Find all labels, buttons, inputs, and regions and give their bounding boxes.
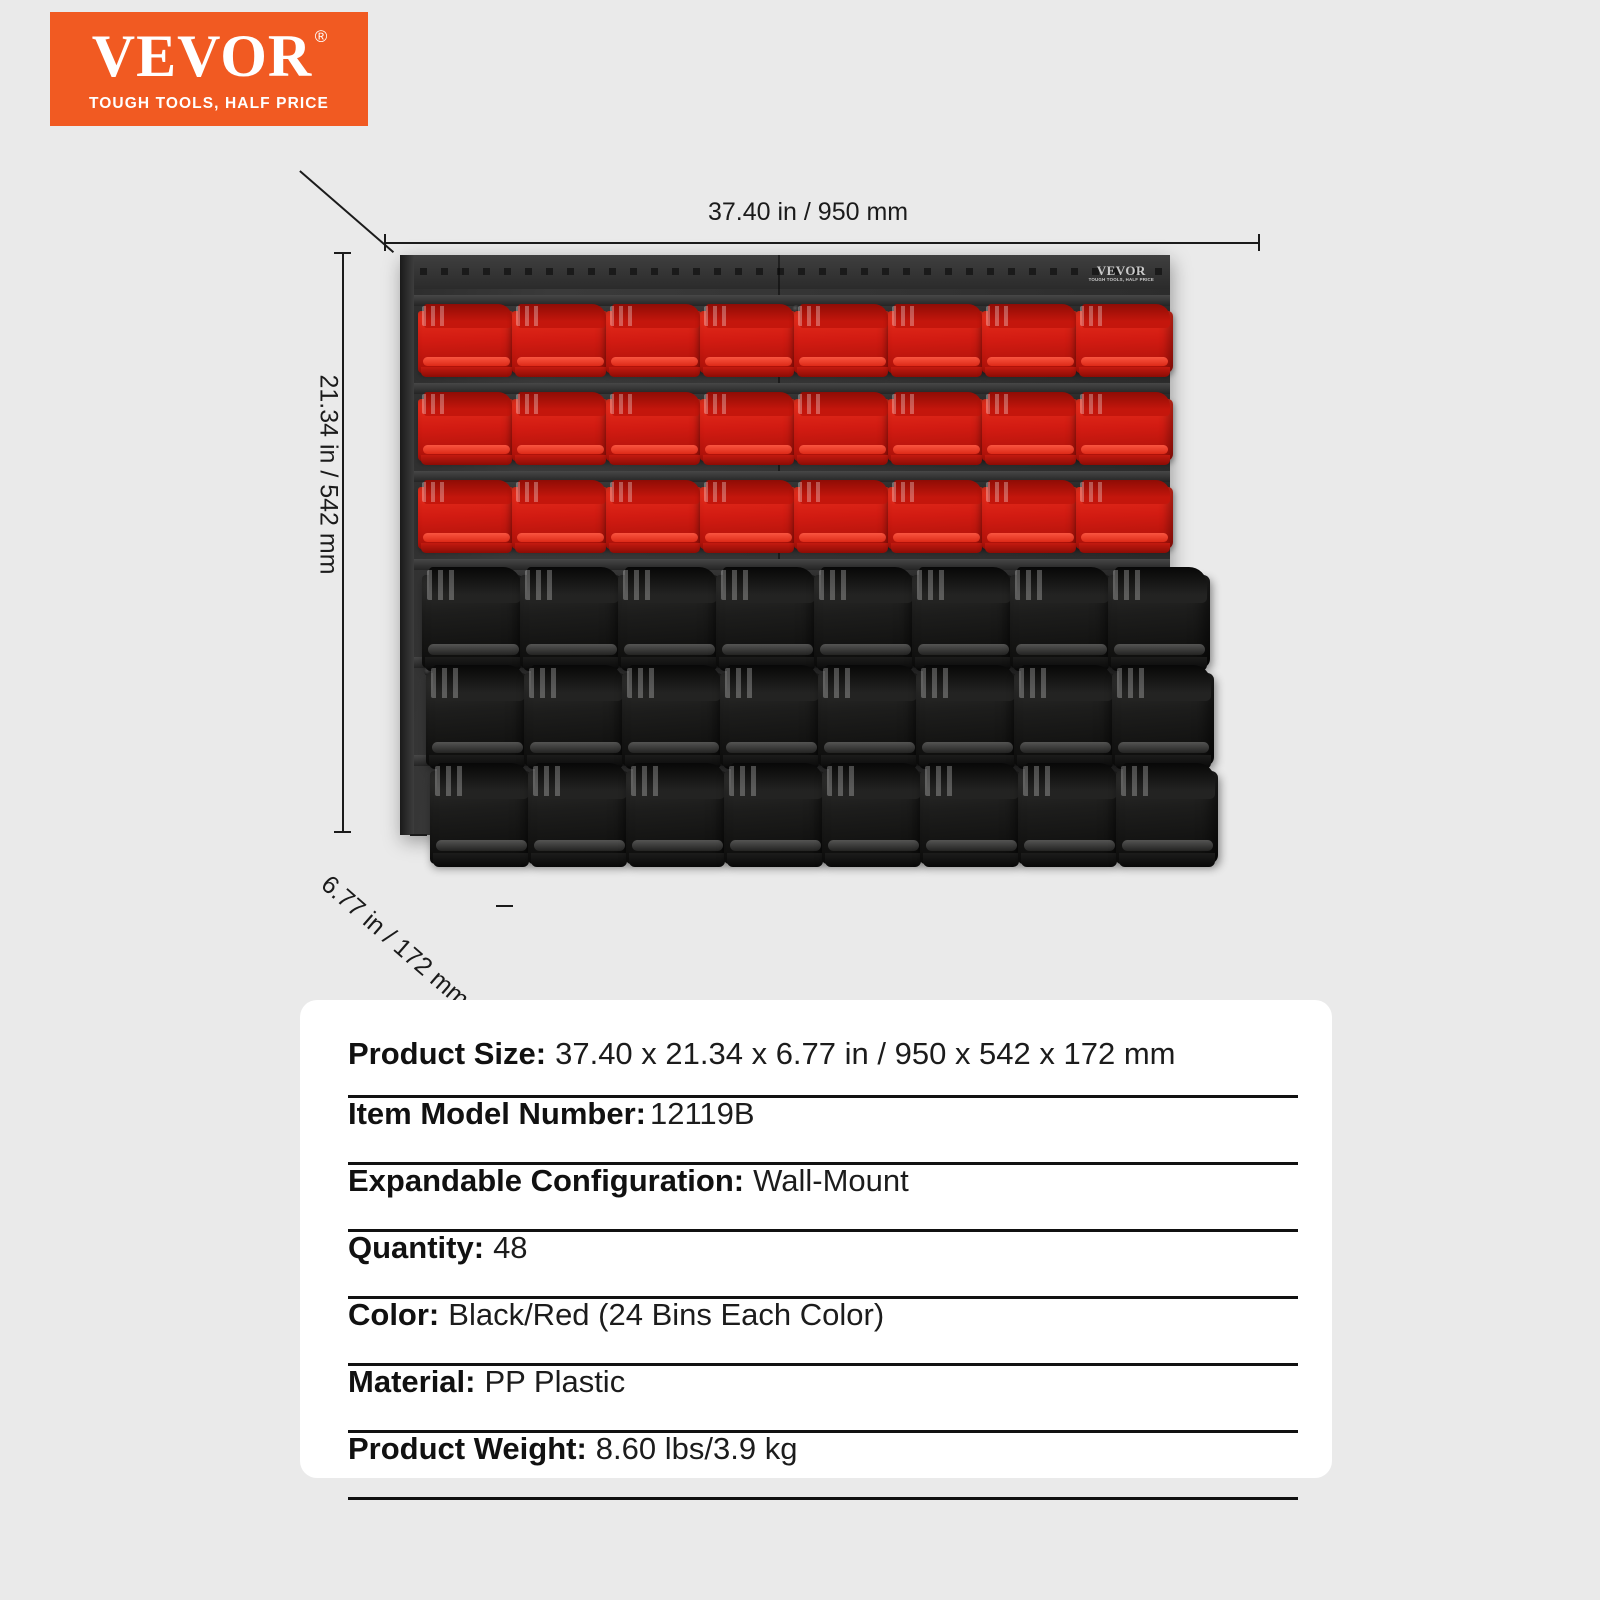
storage-bin-red (1076, 479, 1173, 553)
storage-bin-red (418, 479, 515, 553)
storage-bin-black (528, 761, 630, 867)
dimension-cap-width-right (1258, 234, 1260, 251)
brand-tagline: TOUGH TOOLS, HALF PRICE (89, 95, 329, 113)
storage-bin-black (524, 663, 626, 769)
storage-bin-red (982, 479, 1079, 553)
storage-bin-black (720, 663, 822, 769)
panel-perforations (420, 268, 1164, 275)
storage-bin-red (982, 303, 1079, 377)
storage-bin-black (1108, 565, 1210, 671)
spec-key: Expandable Configuration: (348, 1165, 744, 1198)
storage-bin-red (418, 303, 515, 377)
panel-watermark-tagline: TOUGH TOOLS, HALF PRICE (1089, 278, 1154, 282)
storage-bin-red (888, 479, 985, 553)
spec-value: Black/Red (24 Bins Each Color) (448, 1299, 884, 1332)
storage-bin-black (1018, 761, 1120, 867)
storage-bin-black (814, 565, 916, 671)
bin-row-black-2 (426, 663, 1210, 769)
storage-bin-black (1112, 663, 1214, 769)
storage-bin-red (700, 479, 797, 553)
product-photo: VEVOR TOUGH TOOLS, HALF PRICE (300, 170, 1320, 980)
storage-bin-red (700, 303, 797, 377)
storage-bin-black (822, 761, 924, 867)
storage-bin-black (520, 565, 622, 671)
storage-bin-black (426, 663, 528, 769)
dimension-cap-depth-start (410, 834, 427, 836)
bin-row-black-1 (422, 565, 1206, 671)
storage-bin-black (724, 761, 826, 867)
bin-row-red-2 (418, 391, 1170, 465)
spec-key: Item Model Number: (348, 1098, 646, 1131)
panel-watermark-text: VEVOR (1097, 263, 1146, 278)
storage-bin-black (716, 565, 818, 671)
brand-name: VEVOR (92, 23, 312, 89)
storage-bin-black (618, 565, 720, 671)
dimension-label-width: 37.40 in / 950 mm (708, 198, 908, 227)
registered-trademark-icon: ® (315, 28, 329, 45)
spec-key: Material: (348, 1366, 475, 1399)
storage-bin-black (1014, 663, 1116, 769)
storage-bin-red (606, 391, 703, 465)
storage-bin-black (622, 663, 724, 769)
spec-value: 48 (493, 1232, 527, 1265)
storage-bin-black (916, 663, 1018, 769)
bin-row-black-3 (430, 761, 1214, 867)
dimension-line-width (384, 242, 1260, 244)
spec-row-product-size: Product Size: 37.40 x 21.34 x 6.77 in / … (348, 1038, 1298, 1098)
storage-bin-red (606, 479, 703, 553)
storage-bin-red (512, 479, 609, 553)
storage-bin-red (1076, 391, 1173, 465)
dimension-cap-height-top (334, 252, 351, 254)
spec-value: 12119B (650, 1098, 755, 1131)
storage-bin-black (430, 761, 532, 867)
panel-watermark: VEVOR TOUGH TOOLS, HALF PRICE (1089, 264, 1154, 282)
storage-bin-black (912, 565, 1014, 671)
spec-key: Product Weight: (348, 1433, 587, 1466)
storage-bin-red (700, 391, 797, 465)
storage-bin-red (418, 391, 515, 465)
storage-bin-red (512, 303, 609, 377)
storage-bin-red (888, 303, 985, 377)
spec-row-quantity: Quantity: 48 (348, 1232, 1298, 1299)
storage-bin-red (982, 391, 1079, 465)
spec-row-product-weight: Product Weight: 8.60 lbs/3.9 kg (348, 1433, 1298, 1500)
wall-mount-bin-rack: VEVOR TOUGH TOOLS, HALF PRICE (400, 255, 1260, 945)
storage-bin-red (794, 391, 891, 465)
storage-bin-red (794, 479, 891, 553)
dimension-cap-height-bottom (334, 831, 351, 833)
brand-logo: VEVOR ® TOUGH TOOLS, HALF PRICE (50, 12, 368, 126)
storage-bin-black (818, 663, 920, 769)
spec-row-expandable-configuration: Expandable Configuration: Wall-Mount (348, 1165, 1298, 1232)
panel-top-rail: VEVOR TOUGH TOOLS, HALF PRICE (414, 255, 1170, 289)
dimension-label-height: 21.34 in / 542 mm (314, 195, 343, 755)
storage-bin-black (1010, 565, 1112, 671)
brand-wordmark: VEVOR ® (92, 26, 326, 86)
storage-bin-black (1116, 761, 1218, 867)
bin-row-red-3 (418, 479, 1170, 553)
spec-row-material: Material: PP Plastic (348, 1366, 1298, 1433)
dimension-cap-depth-end (496, 905, 513, 907)
storage-bin-black (422, 565, 524, 671)
bin-row-red-1 (418, 303, 1170, 377)
storage-bin-red (794, 303, 891, 377)
storage-bin-red (606, 303, 703, 377)
spec-value: 8.60 lbs/3.9 kg (596, 1433, 798, 1466)
spec-key: Quantity: (348, 1232, 484, 1265)
spec-value: 37.40 x 21.34 x 6.77 in / 950 x 542 x 17… (555, 1038, 1175, 1071)
panel-left-edge (400, 255, 414, 835)
storage-bin-black (920, 761, 1022, 867)
storage-bin-red (888, 391, 985, 465)
spec-row-color: Color: Black/Red (24 Bins Each Color) (348, 1299, 1298, 1366)
spec-row-item-model-number: Item Model Number: 12119B (348, 1098, 1298, 1165)
storage-bin-red (1076, 303, 1173, 377)
spec-key: Product Size: (348, 1038, 546, 1071)
specification-card: Product Size: 37.40 x 21.34 x 6.77 in / … (300, 1000, 1332, 1478)
spec-value: PP Plastic (484, 1366, 625, 1399)
storage-bin-black (626, 761, 728, 867)
dimension-line-height (342, 252, 344, 832)
storage-bin-red (512, 391, 609, 465)
spec-value: Wall-Mount (753, 1165, 909, 1198)
spec-key: Color: (348, 1299, 439, 1332)
